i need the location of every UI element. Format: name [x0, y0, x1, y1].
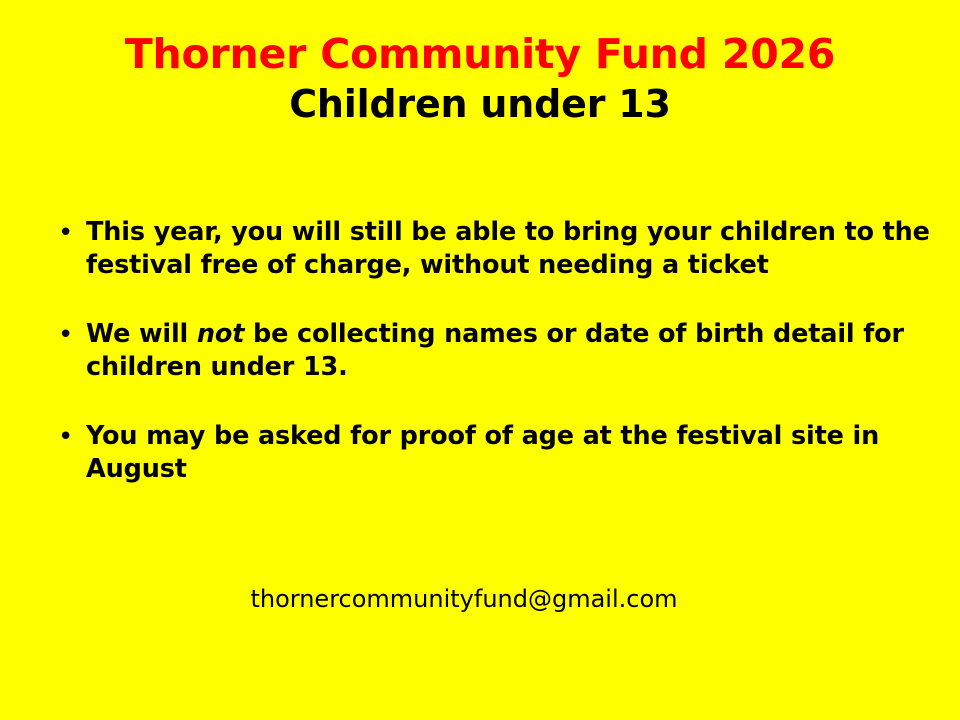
list-item-text: This year, you will still be able to bri…	[86, 216, 932, 282]
list-item-text-before: We will	[86, 319, 197, 349]
slide-canvas: Thorner Community Fund 2026 Children und…	[0, 0, 960, 720]
list-item: • You may be asked for proof of age at t…	[52, 420, 932, 486]
list-item: • This year, you will still be able to b…	[52, 216, 932, 282]
bullet-list: • This year, you will still be able to b…	[52, 216, 932, 486]
page-title: Thorner Community Fund 2026	[0, 28, 960, 80]
list-item-text: You may be asked for proof of age at the…	[86, 420, 932, 486]
contact-email[interactable]: thornercommunityfund@gmail.com	[0, 583, 928, 615]
title-block: Thorner Community Fund 2026 Children und…	[0, 28, 960, 129]
bullet-icon: •	[52, 216, 86, 250]
list-item-text-emphasis: not	[197, 319, 244, 349]
page-subtitle: Children under 13	[0, 80, 960, 129]
bullet-icon: •	[52, 420, 86, 454]
list-item: • We will not be collecting names or dat…	[52, 318, 932, 384]
list-item-text: We will not be collecting names or date …	[86, 318, 932, 384]
bullet-icon: •	[52, 318, 86, 352]
